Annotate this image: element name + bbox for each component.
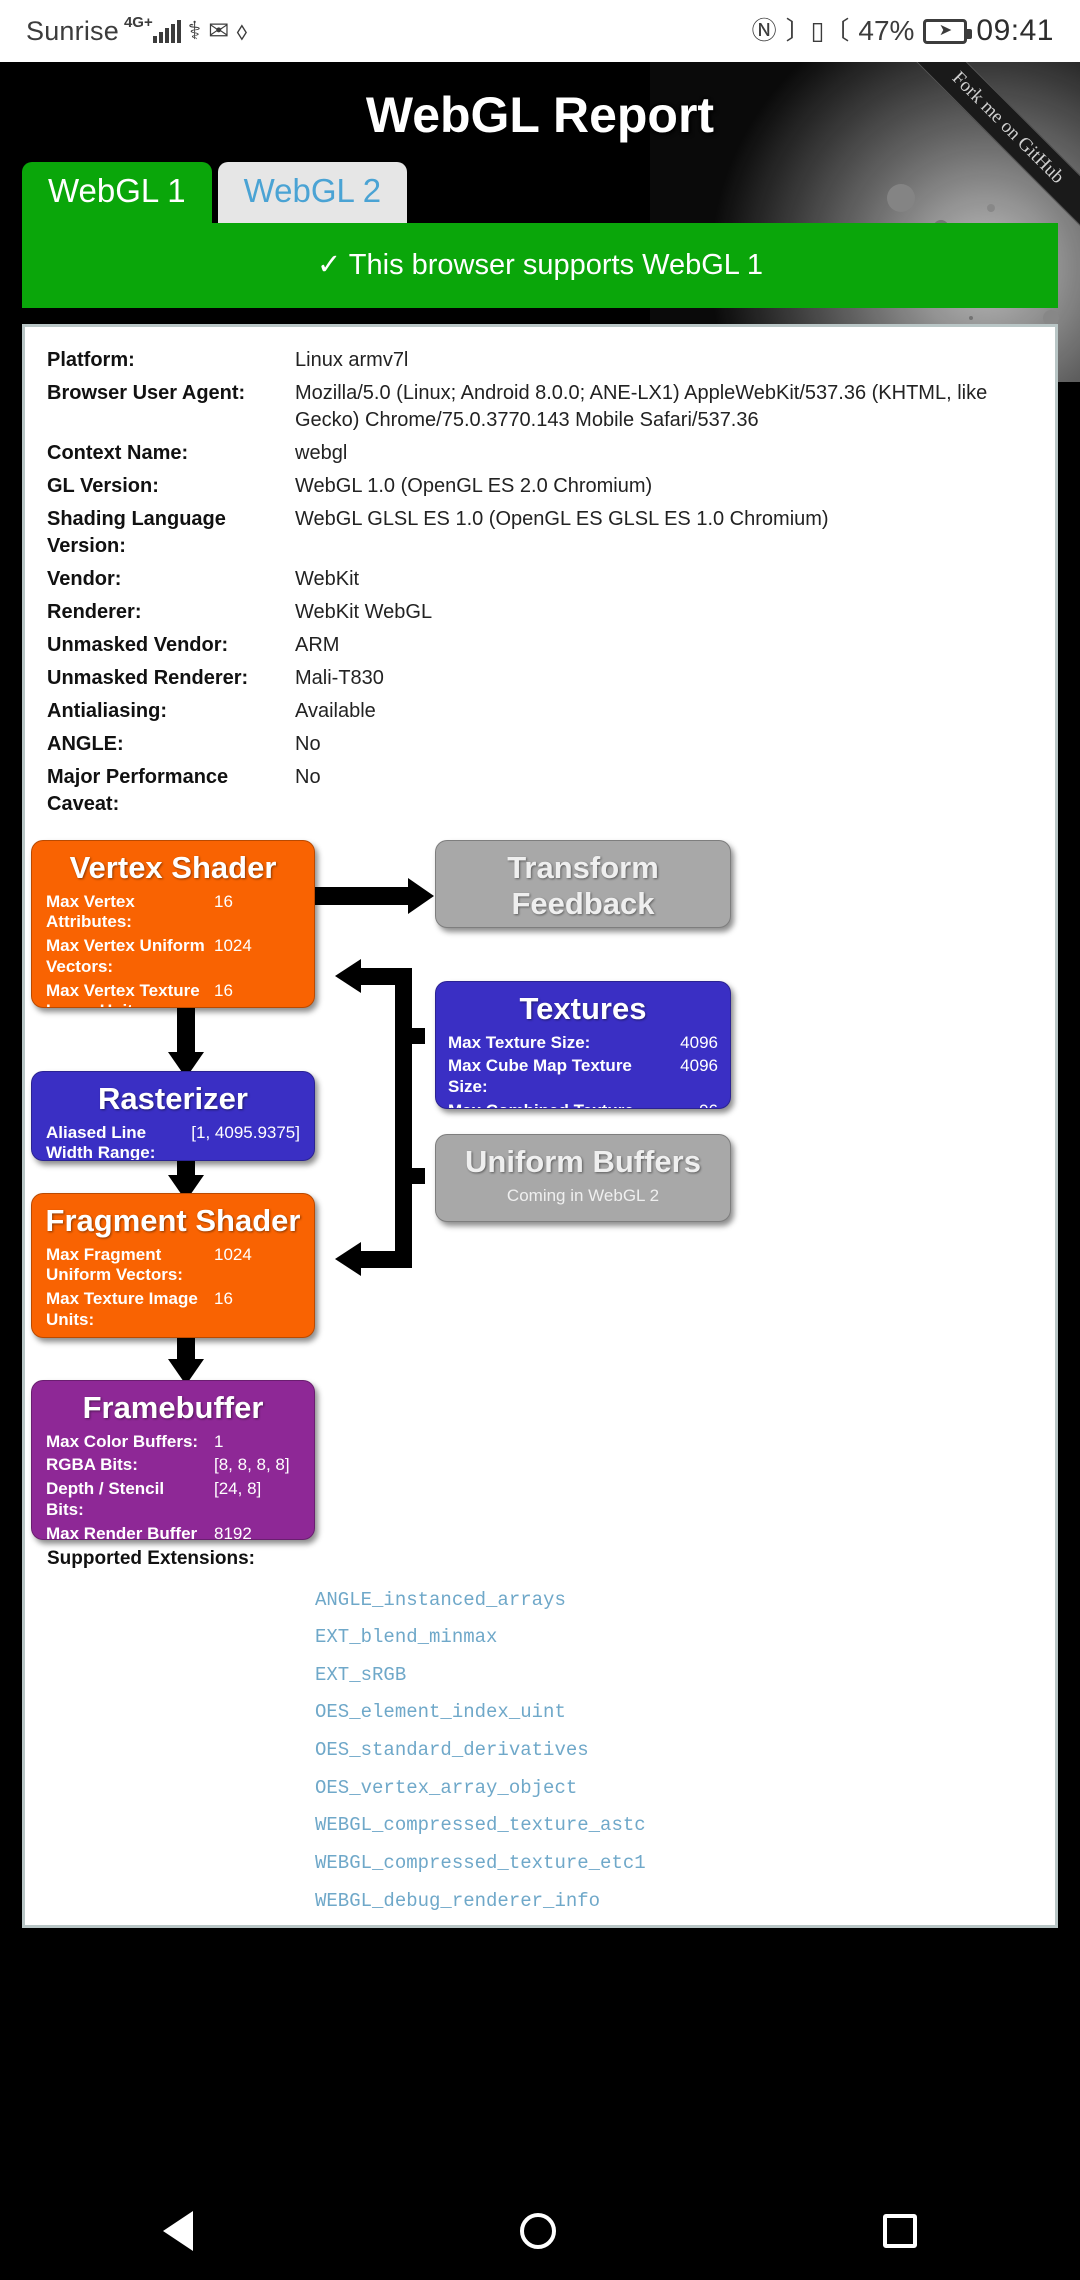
table-row: Unmasked Renderer: Mali-T830	[47, 665, 1035, 692]
info-value: WebKit WebGL	[295, 599, 432, 626]
table-row: Unmasked Vendor: ARM	[47, 632, 1035, 659]
home-button[interactable]	[520, 2213, 556, 2249]
extensions-list: ANGLE_instanced_arrays EXT_blend_minmax …	[47, 1582, 1033, 1928]
sync-icon: ⬨	[236, 19, 247, 44]
list-item[interactable]: WEBGL_debug_renderer_info	[315, 1883, 1033, 1921]
info-key: Shading Language Version:	[47, 506, 295, 560]
info-value: No	[295, 731, 321, 758]
info-key: Browser User Agent:	[47, 380, 295, 407]
extensions-label: Supported Extensions:	[47, 1548, 1033, 1570]
fragment-shader-title: Fragment Shader	[32, 1194, 314, 1245]
extensions-section: Supported Extensions: ANGLE_instanced_ar…	[25, 1538, 1055, 1928]
info-value: ARM	[295, 632, 339, 659]
arrow-vertex-to-transform-head	[408, 878, 434, 914]
info-value: WebKit	[295, 566, 359, 593]
table-row: Max Texture Size: 4096	[448, 1033, 718, 1054]
textures-box: Textures Max Texture Size: 4096 Max Cube…	[435, 981, 731, 1109]
info-key: Unmasked Renderer:	[47, 665, 295, 692]
android-status-bar: Sunrise 4G+ ⚕ ✉ ⬨ Ⓝ 〕▯〔 47% ➤ 09:41	[0, 0, 1080, 62]
uniform-buffers-title: Uniform Buffers	[436, 1135, 730, 1186]
rasterizer-title: Rasterizer	[32, 1072, 314, 1123]
table-row: GL Version: WebGL 1.0 (OpenGL ES 2.0 Chr…	[47, 473, 1035, 500]
info-key: Renderer:	[47, 599, 295, 626]
android-navigation-bar	[0, 2181, 1080, 2280]
table-row: Max Render Buffer Size: 8192	[46, 1524, 300, 1540]
page-title: WebGL Report	[0, 62, 1080, 162]
framebuffer-box: Framebuffer Max Color Buffers: 1 RGBA Bi…	[31, 1380, 315, 1540]
row-value: [8, 8, 8, 8]	[214, 1455, 300, 1476]
row-key: Max Texture Size:	[448, 1033, 658, 1054]
uniform-buffers-box: Uniform Buffers Coming in WebGL 2	[435, 1134, 731, 1222]
row-value: 16	[214, 892, 300, 913]
info-value: WebGL 1.0 (OpenGL ES 2.0 Chromium)	[295, 473, 652, 500]
row-value: 96	[658, 1101, 718, 1109]
table-row: Max Vertex Texture Image Units: 16	[46, 981, 300, 1008]
info-value: Available	[295, 698, 376, 725]
tab-webgl-2[interactable]: WebGL 2	[218, 162, 408, 223]
recents-square-icon	[883, 2214, 917, 2248]
arrow-vertex-to-transform	[315, 887, 410, 905]
rasterizer-box: Rasterizer Aliased Line Width Range: [1,…	[31, 1071, 315, 1161]
table-row: Max Vertex Attributes: 16	[46, 892, 300, 933]
row-key: Max Fragment Uniform Vectors:	[46, 1245, 214, 1286]
status-left-group: Sunrise 4G+ ⚕ ✉ ⬨	[26, 16, 247, 47]
info-key: Vendor:	[47, 566, 295, 593]
info-key: GL Version:	[47, 473, 295, 500]
table-row: Antialiasing: Available	[47, 698, 1035, 725]
row-value: 8192	[214, 1524, 300, 1540]
row-value: 1024	[214, 936, 300, 957]
table-row: Max Vertex Uniform Vectors: 1024	[46, 936, 300, 977]
table-row: Browser User Agent: Mozilla/5.0 (Linux; …	[47, 380, 1035, 434]
webgl-pipeline-diagram: Vertex Shader Max Vertex Attributes: 16 …	[25, 838, 1055, 1538]
uniform-buffers-note: Coming in WebGL 2	[436, 1186, 730, 1222]
table-row: Depth / Stencil Bits: [24, 8]	[46, 1479, 300, 1520]
arrow-textures-bus-v	[395, 968, 412, 1268]
info-key: Context Name:	[47, 440, 295, 467]
tab-bar: WebGL 1 WebGL 2	[0, 162, 1080, 223]
info-value: WebGL GLSL ES 1.0 (OpenGL ES GLSL ES 1.0…	[295, 506, 829, 533]
info-key: Antialiasing:	[47, 698, 295, 725]
arrow-uniform-to-bus	[395, 1168, 425, 1184]
arrow-vertex-to-rasterizer	[177, 1008, 195, 1056]
transform-feedback-title: Transform Feedback	[436, 841, 730, 928]
table-row: Renderer: WebKit WebGL	[47, 599, 1035, 626]
row-value: [24, 8]	[214, 1479, 300, 1500]
list-item[interactable]: WEBGL_compressed_texture_etc1	[315, 1845, 1033, 1883]
info-key: Unmasked Vendor:	[47, 632, 295, 659]
row-key: Max Combined Texture Image Units:	[448, 1101, 658, 1109]
row-value: highp/highp	[212, 1334, 300, 1338]
row-key: Max Texture Image Units:	[46, 1289, 214, 1330]
info-value: Mali-T830	[295, 665, 384, 692]
vertex-shader-title: Vertex Shader	[32, 841, 314, 892]
vertex-shader-box: Vertex Shader Max Vertex Attributes: 16 …	[31, 840, 315, 1008]
home-circle-icon	[520, 2213, 556, 2249]
usb-icon: ⚕	[188, 19, 202, 44]
row-value: 16	[214, 1289, 300, 1310]
list-item[interactable]: EXT_sRGB	[315, 1657, 1033, 1695]
battery-charging-icon: ➤	[923, 19, 967, 44]
info-value: webgl	[295, 440, 347, 467]
table-row: Context Name: webgl	[47, 440, 1035, 467]
row-key: Max Render Buffer Size:	[46, 1524, 214, 1540]
row-key: Max Cube Map Texture Size:	[448, 1056, 658, 1097]
table-row: Vendor: WebKit	[47, 566, 1035, 593]
status-right-group: Ⓝ 〕▯〔 47% ➤ 09:41	[752, 14, 1054, 48]
row-key: Max Vertex Uniform Vectors:	[46, 936, 214, 977]
row-value: 4096	[658, 1033, 718, 1054]
row-value: 1	[214, 1432, 300, 1453]
arrow-textures-stub	[395, 1028, 425, 1044]
table-row: Shading Language Version: WebGL GLSL ES …	[47, 506, 1035, 560]
framebuffer-title: Framebuffer	[32, 1381, 314, 1432]
support-status-banner: ✓ This browser supports WebGL 1	[22, 223, 1058, 308]
info-table: Platform: Linux armv7l Browser User Agen…	[25, 343, 1055, 834]
row-key: Max Color Buffers:	[46, 1432, 214, 1453]
arrow-textures-to-fragment-head	[335, 1242, 361, 1276]
table-row: Max Fragment Uniform Vectors: 1024	[46, 1245, 300, 1286]
mail-icon: ✉	[208, 19, 229, 44]
table-row: Max Color Buffers: 1	[46, 1432, 300, 1453]
row-value: 4096	[658, 1056, 718, 1077]
textures-title: Textures	[436, 982, 730, 1033]
row-value: [1, 4095.9375]	[191, 1123, 300, 1144]
table-row: RGBA Bits: [8, 8, 8, 8]	[46, 1455, 300, 1476]
info-value: Linux armv7l	[295, 347, 408, 374]
report-card: Platform: Linux armv7l Browser User Agen…	[22, 324, 1058, 1928]
back-button[interactable]	[163, 2211, 193, 2251]
row-key: Max Vertex Texture Image Units:	[46, 981, 214, 1008]
table-row: Major Performance Caveat: No	[47, 764, 1035, 818]
table-row: Max Texture Image Units: 16	[46, 1289, 300, 1330]
tab-webgl-1[interactable]: WebGL 1	[22, 162, 212, 223]
row-value: 16	[214, 981, 300, 1002]
arrow-textures-to-vertex-head	[335, 959, 361, 993]
carrier-label: Sunrise	[26, 16, 119, 47]
info-key: ANGLE:	[47, 731, 295, 758]
list-item[interactable]: OES_vertex_array_object	[315, 1770, 1033, 1808]
table-row: Max Cube Map Texture Size: 4096	[448, 1056, 718, 1097]
row-key: Depth / Stencil Bits:	[46, 1479, 214, 1520]
list-item[interactable]: OES_element_index_uint	[315, 1694, 1033, 1732]
recents-button[interactable]	[883, 2214, 917, 2248]
list-item[interactable]: ANGLE_instanced_arrays	[315, 1582, 1033, 1620]
table-row: float/int precision: highp/highp	[46, 1334, 300, 1338]
list-item[interactable]: EXT_blend_minmax	[315, 1619, 1033, 1657]
table-row: Max Combined Texture Image Units: 96	[448, 1101, 718, 1109]
arrow-textures-to-fragment-h	[360, 1251, 412, 1268]
info-value: No	[295, 764, 321, 791]
row-value: 1024	[214, 1245, 300, 1266]
list-item[interactable]: WEBGL_debug_shaders	[315, 1920, 1033, 1928]
table-row: ANGLE: No	[47, 731, 1035, 758]
row-key: Max Vertex Attributes:	[46, 892, 214, 933]
table-row: Aliased Line Width Range: [1, 4095.9375]	[46, 1123, 300, 1161]
vibrate-icon: 〕▯〔	[786, 19, 850, 44]
back-triangle-icon	[163, 2211, 193, 2251]
info-key: Major Performance Caveat:	[47, 764, 295, 818]
info-key: Platform:	[47, 347, 295, 374]
row-key: RGBA Bits:	[46, 1455, 214, 1476]
nfc-icon: Ⓝ	[752, 19, 777, 44]
signal-bars-icon: 4G+	[124, 19, 181, 43]
info-value: Mozilla/5.0 (Linux; Android 8.0.0; ANE-L…	[295, 380, 1035, 434]
table-row: Platform: Linux armv7l	[47, 347, 1035, 374]
list-item[interactable]: WEBGL_compressed_texture_astc	[315, 1807, 1033, 1845]
battery-percent-label: 47%	[858, 15, 914, 47]
row-key: float/int precision:	[46, 1334, 212, 1338]
webgl-report-page: Fork me on GitHub WebGL Report WebGL 1 W…	[0, 62, 1080, 2181]
clock-label: 09:41	[976, 14, 1054, 48]
row-key: Aliased Line Width Range:	[46, 1123, 191, 1161]
fragment-shader-box: Fragment Shader Max Fragment Uniform Vec…	[31, 1193, 315, 1338]
transform-feedback-box: Transform Feedback Coming in WebGL 2	[435, 840, 731, 928]
network-type-label: 4G+	[124, 14, 153, 31]
list-item[interactable]: OES_standard_derivatives	[315, 1732, 1033, 1770]
